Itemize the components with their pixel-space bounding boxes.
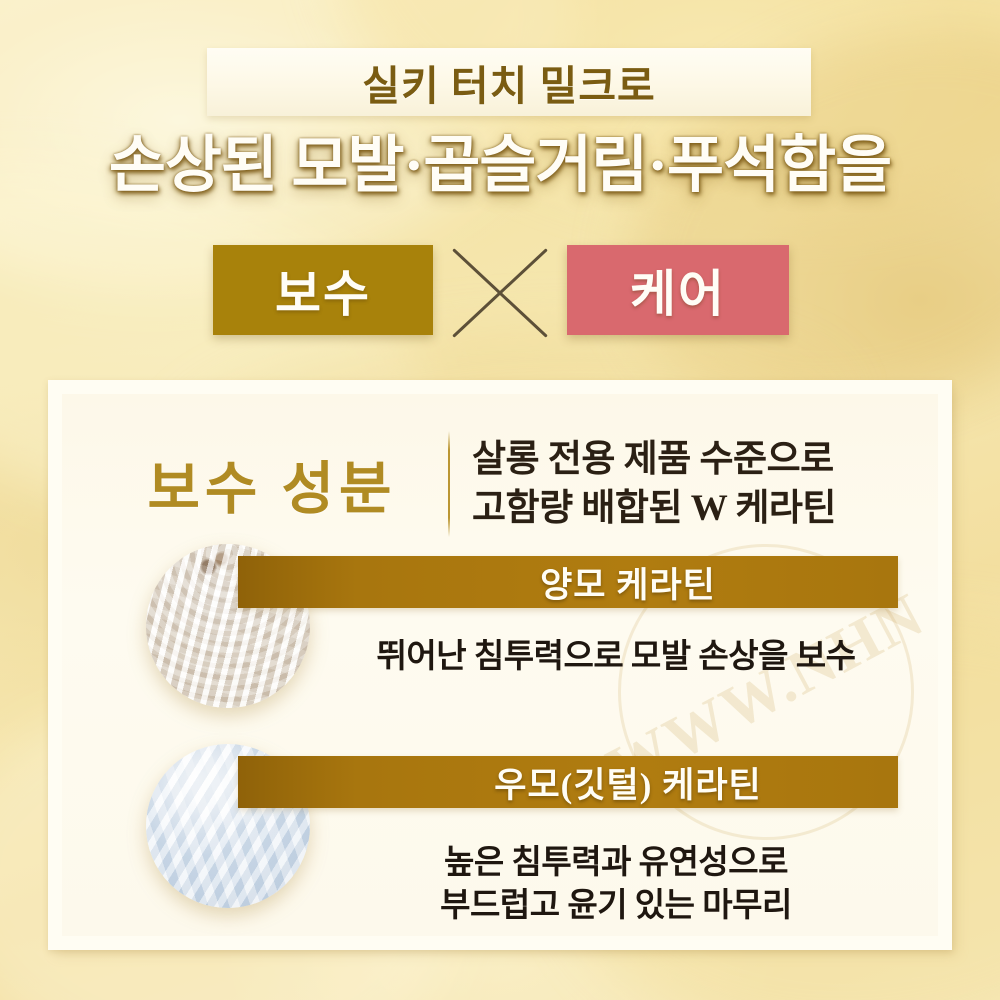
ingredient-row-feather: 우모(깃털) 케라틴 높은 침투력과 유연성으로 부드럽고 윤기 있는 마무리 [62,724,938,934]
feather-keratin-bar: 우모(깃털) 케라틴 [238,756,898,808]
feather-keratin-description-line1: 높은 침투력과 유연성으로 [334,842,898,885]
section-subtitle-line1: 살롱 전용 제품 수준으로 [472,435,836,484]
section-subtitle: 살롱 전용 제품 수준으로 고함량 배합된 W 케라틴 [472,435,836,533]
ingredient-card-inner: WWW.NHN 보수 성분 살롱 전용 제품 수준으로 고함량 배합된 W 케라… [62,394,938,936]
infographic-canvas: 실키 터치 밀크로 손상된 모발·곱슬거림·푸석함을 보수 케어 WWW.NHN… [0,0,1000,1000]
badge-row: 보수 케어 [0,245,1000,345]
feather-keratin-description-line2: 부드럽고 윤기 있는 마무리 [334,885,898,928]
wool-keratin-label: 양모 케라틴 [420,557,716,608]
ingredient-card: WWW.NHN 보수 성분 살롱 전용 제품 수준으로 고함량 배합된 W 케라… [48,380,952,950]
wool-keratin-bar: 양모 케라틴 [238,556,898,608]
section-header: 보수 성분 살롱 전용 제품 수준으로 고함량 배합된 W 케라틴 [102,426,902,542]
section-title: 보수 성분 [102,443,442,525]
feather-keratin-label: 우모(깃털) 케라틴 [374,757,761,808]
ingredient-row-wool: 양모 케라틴 뛰어난 침투력으로 모발 손상을 보수 [62,526,938,726]
section-divider [448,431,450,537]
wool-keratin-description-line1: 뛰어난 침투력으로 모발 손상을 보수 [334,636,898,679]
badge-care: 케어 [567,245,789,335]
top-banner-text: 실키 터치 밀크로 [207,48,811,116]
badge-repair: 보수 [213,245,433,335]
headline-text: 손상된 모발·곱슬거림·푸석함을 [0,133,1000,200]
feather-keratin-description: 높은 침투력과 유연성으로 부드럽고 윤기 있는 마무리 [238,842,898,928]
x-mark-icon [449,243,551,343]
wool-keratin-description: 뛰어난 침투력으로 모발 손상을 보수 [238,636,898,679]
